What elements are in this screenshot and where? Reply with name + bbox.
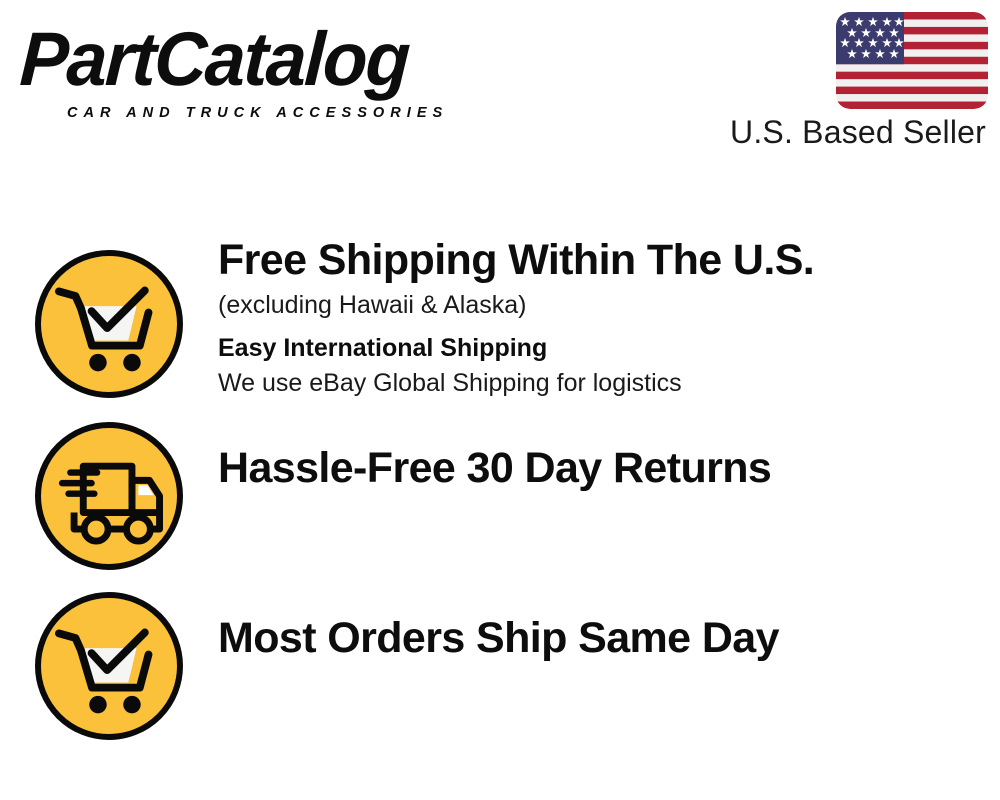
shopping-cart-check-icon [35,592,183,740]
feature-note: (excluding Hawaii & Alaska) [218,288,1000,323]
feature-title: Hassle-Free 30 Day Returns [218,404,1000,496]
feature-subhead: Easy International Shipping [218,323,1000,366]
delivery-truck-icon [35,422,183,570]
us-flag-icon [836,12,988,109]
feature-text-container: Hassle-Free 30 Day Returns [218,404,1000,496]
shopping-cart-check-icon [35,250,183,398]
feature-text-container: Free Shipping Within The U.S. (excluding… [218,232,1000,401]
feature-row-returns: Hassle-Free 30 Day Returns [0,404,1000,570]
brand-logo: PartCatalog CAR AND TRUCK ACCESSORIES [22,22,492,120]
feature-row-free-shipping: Free Shipping Within The U.S. (excluding… [0,232,1000,401]
us-based-seller-label: U.S. Based Seller [698,113,988,151]
shipping-info-banner: PartCatalog CAR AND TRUCK ACCESSORIES [0,0,1000,800]
feature-text-container: Most Orders Ship Same Day [218,574,1000,666]
brand-logo-tagline: CAR AND TRUCK ACCESSORIES [67,105,448,120]
feature-title: Free Shipping Within The U.S. [218,232,1000,288]
feature-icon-container [0,232,218,398]
feature-icon-container [0,574,218,740]
feature-title: Most Orders Ship Same Day [218,574,1000,666]
us-based-seller-badge: U.S. Based Seller [698,12,988,151]
brand-logo-wordmark: PartCatalog [18,22,473,98]
feature-icon-container [0,404,218,570]
feature-row-same-day-ship: Most Orders Ship Same Day [0,574,1000,740]
feature-subtext: We use eBay Global Shipping for logistic… [218,366,1000,401]
